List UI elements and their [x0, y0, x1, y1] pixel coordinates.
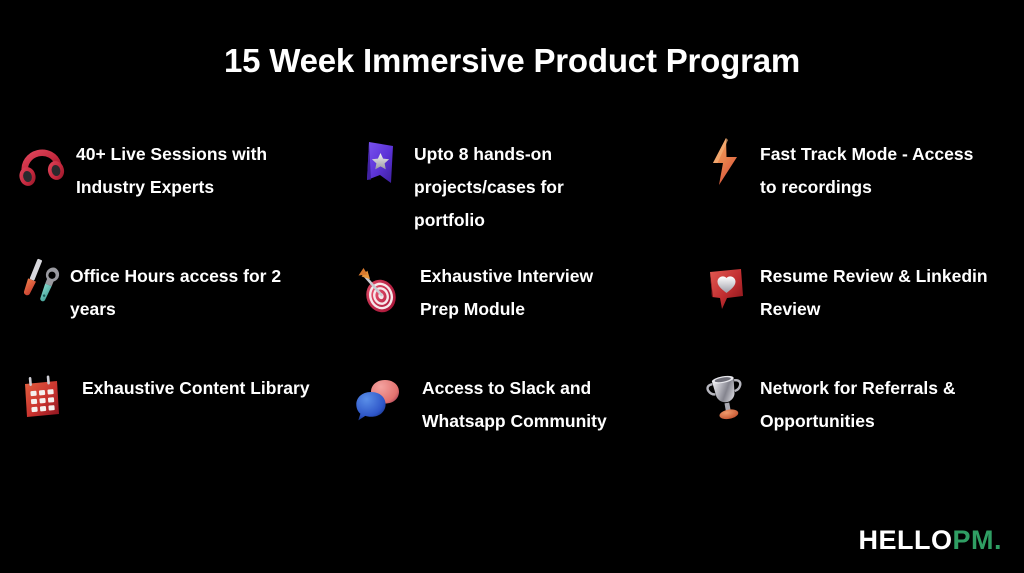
feature-item-interview-prep: Exhaustive Interview Prep Module	[342, 254, 684, 366]
feature-item-fast-track-mode: Fast Track Mode - Access to recordings	[684, 132, 1024, 254]
lightning-bolt-icon	[698, 134, 754, 190]
feature-label: Office Hours access for 2 years	[70, 260, 310, 326]
feature-label: Upto 8 hands-on projects/cases for portf…	[414, 138, 609, 237]
feature-item-network-referrals: Network for Referrals & Opportunities	[684, 366, 1024, 471]
feature-label: Resume Review & Linkedin Review	[760, 260, 1000, 326]
feature-label: Access to Slack and Whatsapp Community	[422, 372, 657, 438]
feature-label: Exhaustive Content Library	[82, 372, 310, 405]
feature-grid: 40+ Live Sessions with Industry Experts	[0, 132, 1024, 471]
feature-label: Network for Referrals & Opportunities	[760, 372, 1005, 438]
tools-icon	[14, 256, 70, 312]
page-title: 15 Week Immersive Product Program	[0, 42, 1024, 80]
slide-canvas: 15 Week Immersive Product Program	[0, 0, 1024, 573]
dartboard-icon	[352, 262, 408, 318]
feature-label: 40+ Live Sessions with Industry Experts	[76, 138, 316, 204]
speech-bubbles-icon	[352, 372, 408, 428]
feature-item-office-hours: Office Hours access for 2 years	[0, 254, 342, 366]
logo-primary-text: HELLO	[858, 525, 952, 555]
feedback-heart-icon	[698, 260, 754, 316]
feature-item-resume-review: Resume Review & Linkedin Review	[684, 254, 1024, 366]
headphones-icon	[14, 138, 70, 194]
trophy-icon	[698, 370, 754, 426]
brand-logo: HELLOPM.	[858, 525, 1002, 556]
feature-label: Exhaustive Interview Prep Module	[420, 260, 635, 326]
calendar-icon	[14, 370, 70, 426]
feature-item-live-sessions: 40+ Live Sessions with Industry Experts	[0, 132, 342, 254]
feature-item-community-access: Access to Slack and Whatsapp Community	[342, 366, 684, 471]
feature-label: Fast Track Mode - Access to recordings	[760, 138, 975, 204]
feature-item-hands-on-projects: Upto 8 hands-on projects/cases for portf…	[342, 132, 684, 254]
bookmark-star-icon	[352, 136, 408, 192]
logo-accent-text: PM.	[952, 525, 1002, 555]
feature-item-content-library: Exhaustive Content Library	[0, 366, 342, 471]
